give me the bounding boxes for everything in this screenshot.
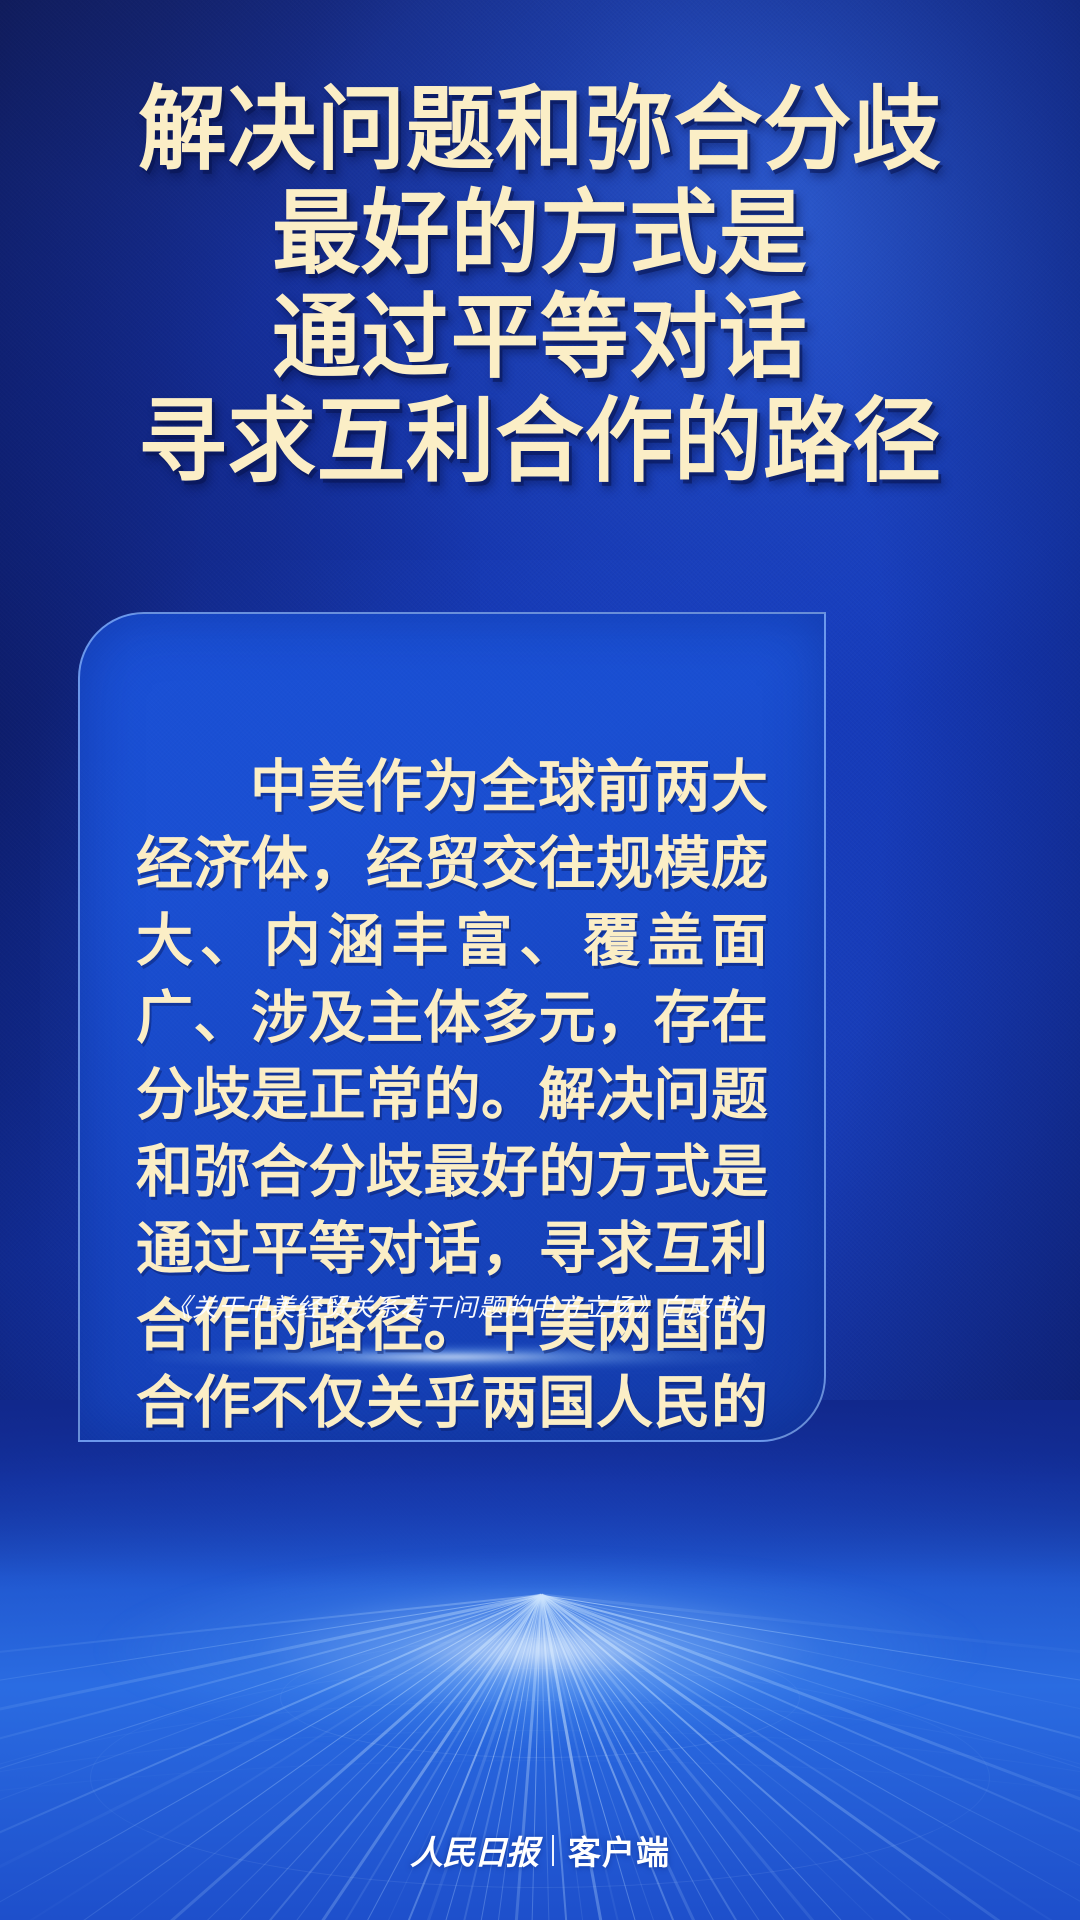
title-line-1: 解决问题和弥合分歧 bbox=[22, 78, 1059, 182]
page-title: 解决问题和弥合分歧 最好的方式是 通过平等对话 寻求互利合作的路径 bbox=[0, 78, 1080, 494]
title-line-2: 最好的方式是 bbox=[22, 182, 1059, 286]
quote-source-attribution: 《关于中美经贸关系若干问题的中方立场》白皮书 bbox=[80, 1288, 824, 1324]
quote-paragraph: 中美作为全球前两大经济体，经贸交往规模庞大、内涵丰富、覆盖面广、涉及主体多元，存… bbox=[136, 749, 768, 1442]
logo-divider bbox=[552, 1835, 554, 1866]
title-line-3: 通过平等对话 bbox=[22, 286, 1059, 390]
peoples-daily-logo: 人民日报 bbox=[410, 1826, 538, 1874]
poster-root: 解决问题和弥合分歧 最好的方式是 通过平等对话 寻求互利合作的路径 中美作为全球… bbox=[0, 0, 1080, 1920]
footer-branding: 人民日报 客户端 bbox=[0, 1826, 1080, 1874]
title-line-4: 寻求互利合作的路径 bbox=[22, 390, 1059, 494]
quote-card: 中美作为全球前两大经济体，经贸交往规模庞大、内涵丰富、覆盖面广、涉及主体多元，存… bbox=[78, 612, 826, 1442]
app-name-label: 客户端 bbox=[568, 1826, 670, 1874]
